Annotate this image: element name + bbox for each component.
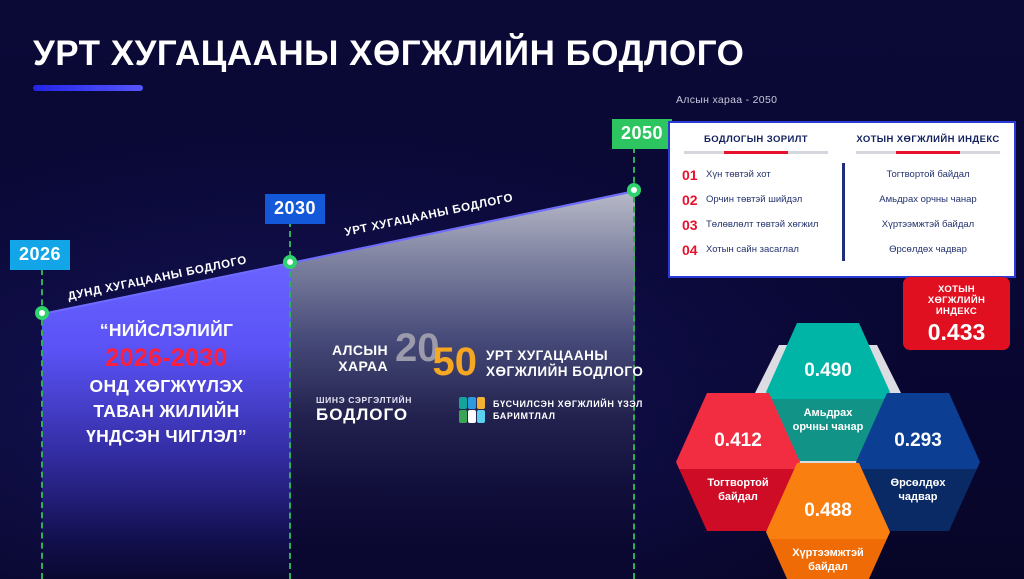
quote-line-4: ТАВАН ЖИЛИЙН bbox=[44, 399, 289, 424]
table-row: 02 Орчин төвтэй шийдэл bbox=[682, 187, 830, 212]
city-development-index-rule bbox=[856, 151, 1000, 154]
index-badge-line1: ХОТЫН bbox=[903, 284, 1010, 295]
ramp-long-term bbox=[291, 190, 635, 579]
quote-line-1: “НИЙСЛЭЛИЙГ bbox=[44, 318, 289, 343]
vision-kicker-line1: АЛСЫН bbox=[332, 342, 388, 358]
tile-6 bbox=[477, 410, 485, 423]
new-recovery-policy: ШИНЭ СЭРГЭЛТИЙН БОДЛОГО bbox=[316, 395, 412, 424]
row-number: 01 bbox=[682, 167, 706, 183]
tile-2 bbox=[468, 397, 476, 410]
concept-line2: БАРИМТЛАЛ bbox=[493, 410, 643, 422]
index-hexagon-cluster: 0.490 Амьдрах орчны чанар 0.412 Тогтворт… bbox=[648, 305, 1024, 579]
row-label: Төлөвлөлт төвтэй хөгжил bbox=[706, 219, 818, 230]
quote-line-2: 2026-2030 bbox=[44, 343, 289, 374]
vision-title-line1: УРТ ХУГАЦААНЫ bbox=[486, 348, 643, 364]
page-title: УРТ ХУГАЦААНЫ ХӨГЖЛИЙН БОДЛОГО bbox=[33, 34, 744, 74]
hexagon-label-line1: Амьдрах bbox=[766, 406, 890, 420]
vision-title: УРТ ХУГАЦААНЫ ХӨГЖЛИЙН БОДЛОГО bbox=[486, 330, 643, 380]
year-badge-2026[interactable]: 2026 bbox=[10, 240, 70, 270]
hexagon-label-line1: Өрсөлдөх bbox=[856, 476, 980, 490]
table-row: Хүртээмжтэй байдал bbox=[854, 212, 1002, 237]
row-label: Хүн төвтэй хот bbox=[706, 169, 771, 180]
year-badge-2030[interactable]: 2030 bbox=[265, 194, 325, 224]
row-number: 02 bbox=[682, 192, 706, 208]
table-row: 03 Төлөвлөлт төвтэй хөгжил bbox=[682, 212, 830, 237]
regional-concept-label: БҮСЧИЛСЭН ХӨГЖЛИЙН ҮЗЭЛ БАРИМТЛАЛ bbox=[493, 398, 643, 422]
table-row: 01 Хүн төвтэй хот bbox=[682, 162, 830, 187]
tile-4 bbox=[459, 410, 467, 423]
policy-word: БОДЛОГО bbox=[316, 405, 412, 424]
concept-line1: БҮСЧИЛСЭН ХӨГЖЛИЙН ҮЗЭЛ bbox=[493, 398, 643, 410]
hexagon-label: Хүртээмжтэй байдал bbox=[766, 546, 890, 574]
table-row: Амьдрах орчны чанар bbox=[854, 187, 1002, 212]
table-row: 04 Хотын сайн засаглал bbox=[682, 237, 830, 262]
infographic-canvas: УРТ ХУГАЦААНЫ ХӨГЖЛИЙН БОДЛОГО ДУНД ХУГА… bbox=[0, 0, 1024, 579]
regional-development-tiles-icon bbox=[459, 397, 485, 423]
card-caption: Алсын хараа - 2050 bbox=[676, 94, 777, 106]
row-label: Орчин төвтэй шийдэл bbox=[706, 194, 802, 205]
hexagon-value: 0.488 bbox=[766, 500, 890, 522]
hexagon-value: 0.412 bbox=[676, 430, 800, 452]
row-number: 04 bbox=[682, 242, 706, 258]
table-row: Өрсөлдөх чадвар bbox=[854, 237, 1002, 262]
vision-2050-block: АЛСЫН ХАРАА 20 50 УРТ ХУГАЦААНЫ ХӨГЖЛИЙН… bbox=[332, 330, 643, 380]
title-underline bbox=[33, 85, 143, 91]
vision-kicker: АЛСЫН ХАРАА bbox=[332, 330, 388, 374]
timeline-dot-2030 bbox=[283, 255, 297, 269]
policy-objectives-column: БОДЛОГЫН ЗОРИЛТ 01 Хүн төвтэй хот 02 Орч… bbox=[670, 123, 842, 276]
policy-kicker: ШИНЭ СЭРГЭЛТИЙН bbox=[316, 395, 412, 405]
vision-title-line2: ХӨГЖЛИЙН БОДЛОГО bbox=[486, 364, 643, 380]
tile-1 bbox=[459, 397, 467, 410]
timeline-guide-2030 bbox=[289, 221, 291, 579]
row-label: Тогтвортой байдал bbox=[886, 169, 969, 180]
five-year-guideline-quote: “НИЙСЛЭЛИЙГ 2026-2030 ОНД ХӨГЖҮҮЛЭХ ТАВА… bbox=[44, 318, 289, 449]
hexagon-value: 0.490 bbox=[766, 360, 890, 382]
row-label: Өрсөлдөх чадвар bbox=[889, 244, 967, 255]
city-development-index-header: ХОТЫН ХӨГЖЛИЙН ИНДЕКС bbox=[854, 134, 1002, 145]
row-label: Амьдрах орчны чанар bbox=[879, 194, 976, 205]
hexagon-label-line1: Тогтвортой bbox=[676, 476, 800, 490]
row-number: 03 bbox=[682, 217, 706, 233]
year-badge-2050[interactable]: 2050 bbox=[612, 119, 672, 149]
row-label: Хотын сайн засаглал bbox=[706, 244, 799, 255]
tile-3 bbox=[477, 397, 485, 410]
vision-year-suffix: 50 bbox=[433, 344, 478, 380]
hexagon-label-line1: Хүртээмжтэй bbox=[766, 546, 890, 560]
card-column-divider bbox=[842, 163, 845, 261]
hexagon-value: 0.293 bbox=[856, 430, 980, 452]
policy-objectives-rule bbox=[684, 151, 828, 154]
vision-footer-row: ШИНЭ СЭРГЭЛТИЙН БОДЛОГО БҮСЧИЛСЭН ХӨГЖЛИ… bbox=[316, 395, 643, 424]
policy-objectives-header: БОДЛОГЫН ЗОРИЛТ bbox=[682, 134, 830, 145]
quote-line-5: ҮНДСЭН ЧИГЛЭЛ” bbox=[44, 424, 289, 449]
tile-5 bbox=[468, 410, 476, 423]
city-development-index-column: ХОТЫН ХӨГЖЛИЙН ИНДЕКС Тогтвортой байдал … bbox=[842, 123, 1014, 276]
table-row: Тогтвортой байдал bbox=[854, 162, 1002, 187]
row-label: Хүртээмжтэй байдал bbox=[882, 219, 974, 230]
quote-line-3: ОНД ХӨГЖҮҮЛЭХ bbox=[44, 374, 289, 399]
hexagon-label-line2: байдал bbox=[766, 560, 890, 574]
vision-kicker-line2: ХАРАА bbox=[332, 358, 388, 374]
timeline-dot-2050 bbox=[627, 183, 641, 197]
